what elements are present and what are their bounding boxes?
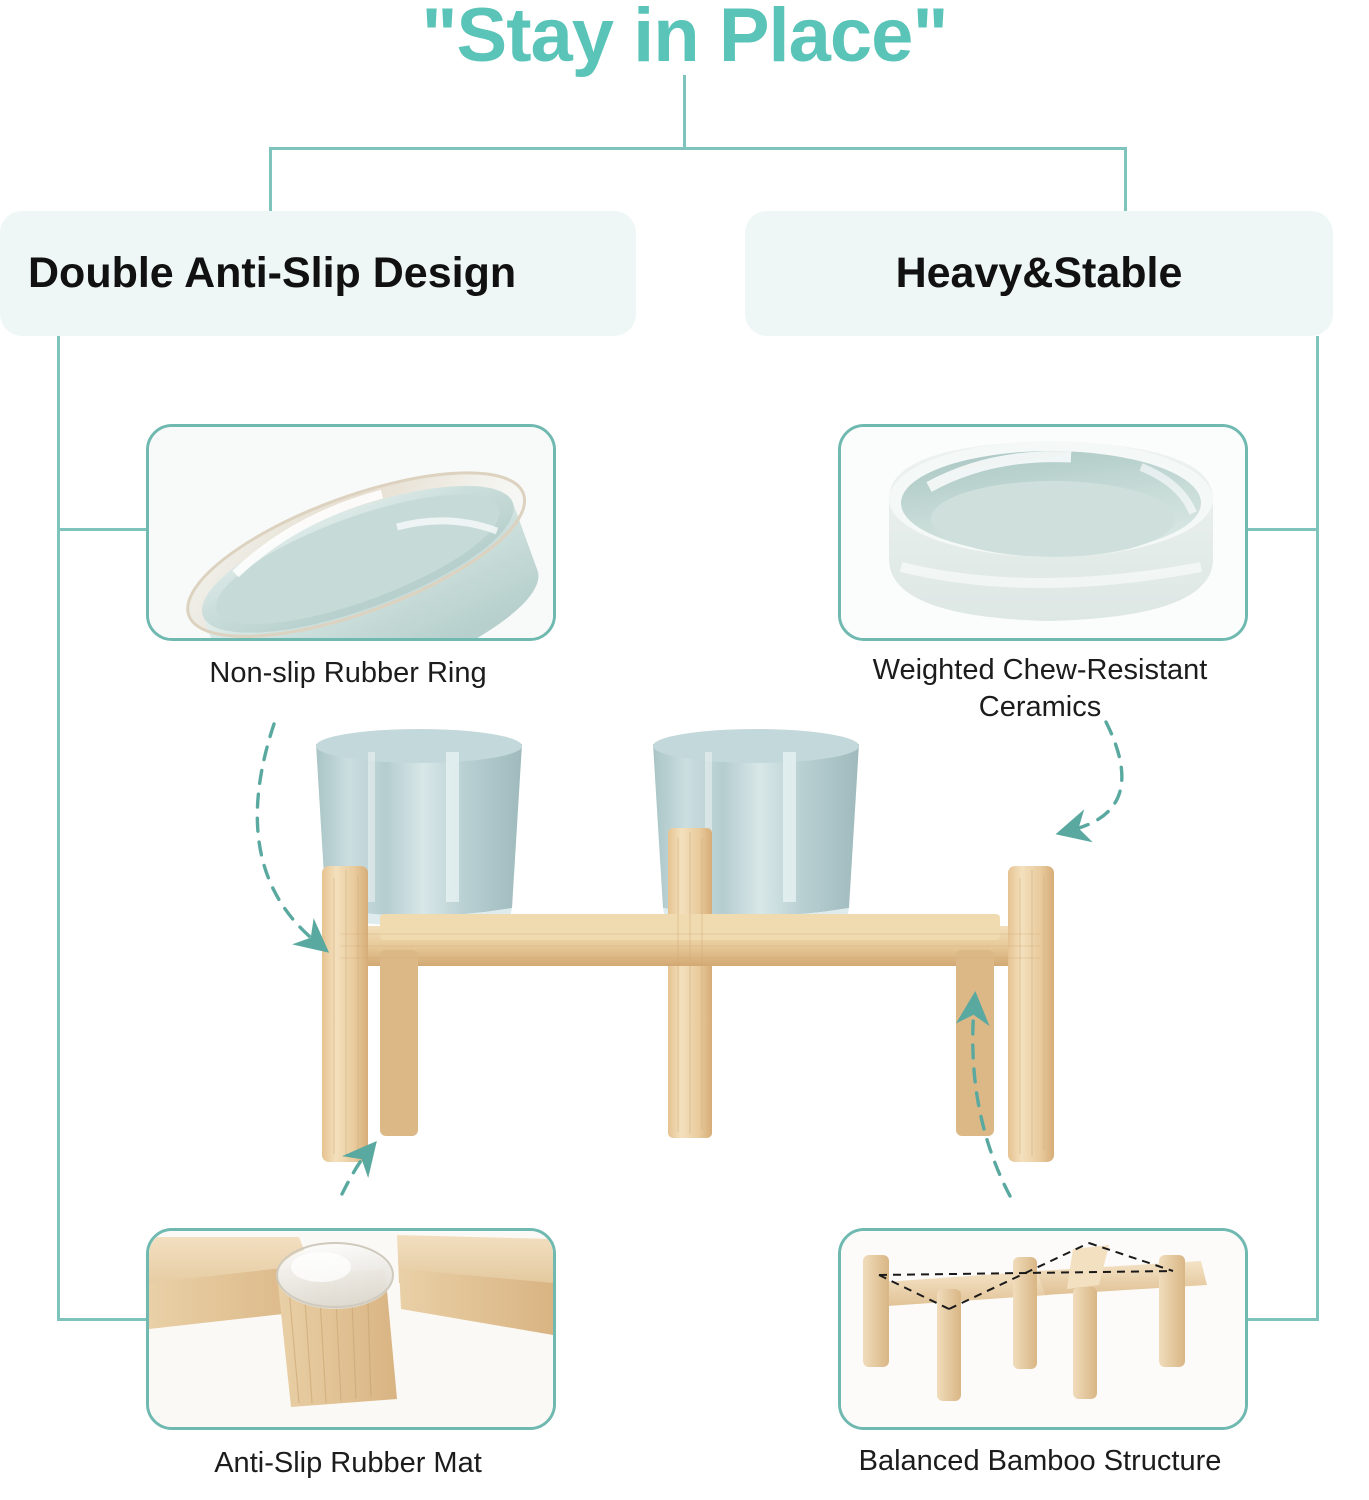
- connector-left-spine: [57, 336, 60, 1321]
- connector-left-branch-top: [57, 528, 152, 531]
- caption-non-slip-rubber-ring: Non-slip Rubber Ring: [146, 655, 550, 692]
- photo-balanced-bamboo-structure: [838, 1228, 1248, 1430]
- heading-right-label: Heavy&Stable: [896, 249, 1183, 298]
- caption-anti-slip-rubber-mat: Anti-Slip Rubber Mat: [146, 1445, 550, 1482]
- connector-title-stem: [683, 75, 686, 150]
- photo-weighted-chew-resistant-ceramics: [838, 424, 1248, 641]
- connector-right-branch-bottom: [1236, 1318, 1319, 1321]
- hero-product-image: [250, 718, 1130, 1198]
- connector-right-branch-top: [1236, 528, 1319, 531]
- photo-anti-slip-rubber-mat: [146, 1228, 556, 1430]
- connector-right-spine: [1316, 336, 1319, 1321]
- page-title: "Stay in Place": [0, 0, 1369, 79]
- heading-double-anti-slip-design: Double Anti-Slip Design: [0, 211, 636, 336]
- heading-left-label: Double Anti-Slip Design: [28, 249, 516, 298]
- heading-heavy-and-stable: Heavy&Stable: [745, 211, 1333, 336]
- caption-weighted-chew-resistant-ceramics: Weighted Chew-Resistant Ceramics: [838, 652, 1242, 726]
- photo-non-slip-rubber-ring: [146, 424, 556, 641]
- connector-top-bracket: [269, 147, 1127, 150]
- caption-balanced-bamboo-structure: Balanced Bamboo Structure: [838, 1443, 1242, 1480]
- connector-left-branch-bottom: [57, 1318, 152, 1321]
- connector-bracket-left: [269, 147, 272, 215]
- connector-bracket-right: [1124, 147, 1127, 215]
